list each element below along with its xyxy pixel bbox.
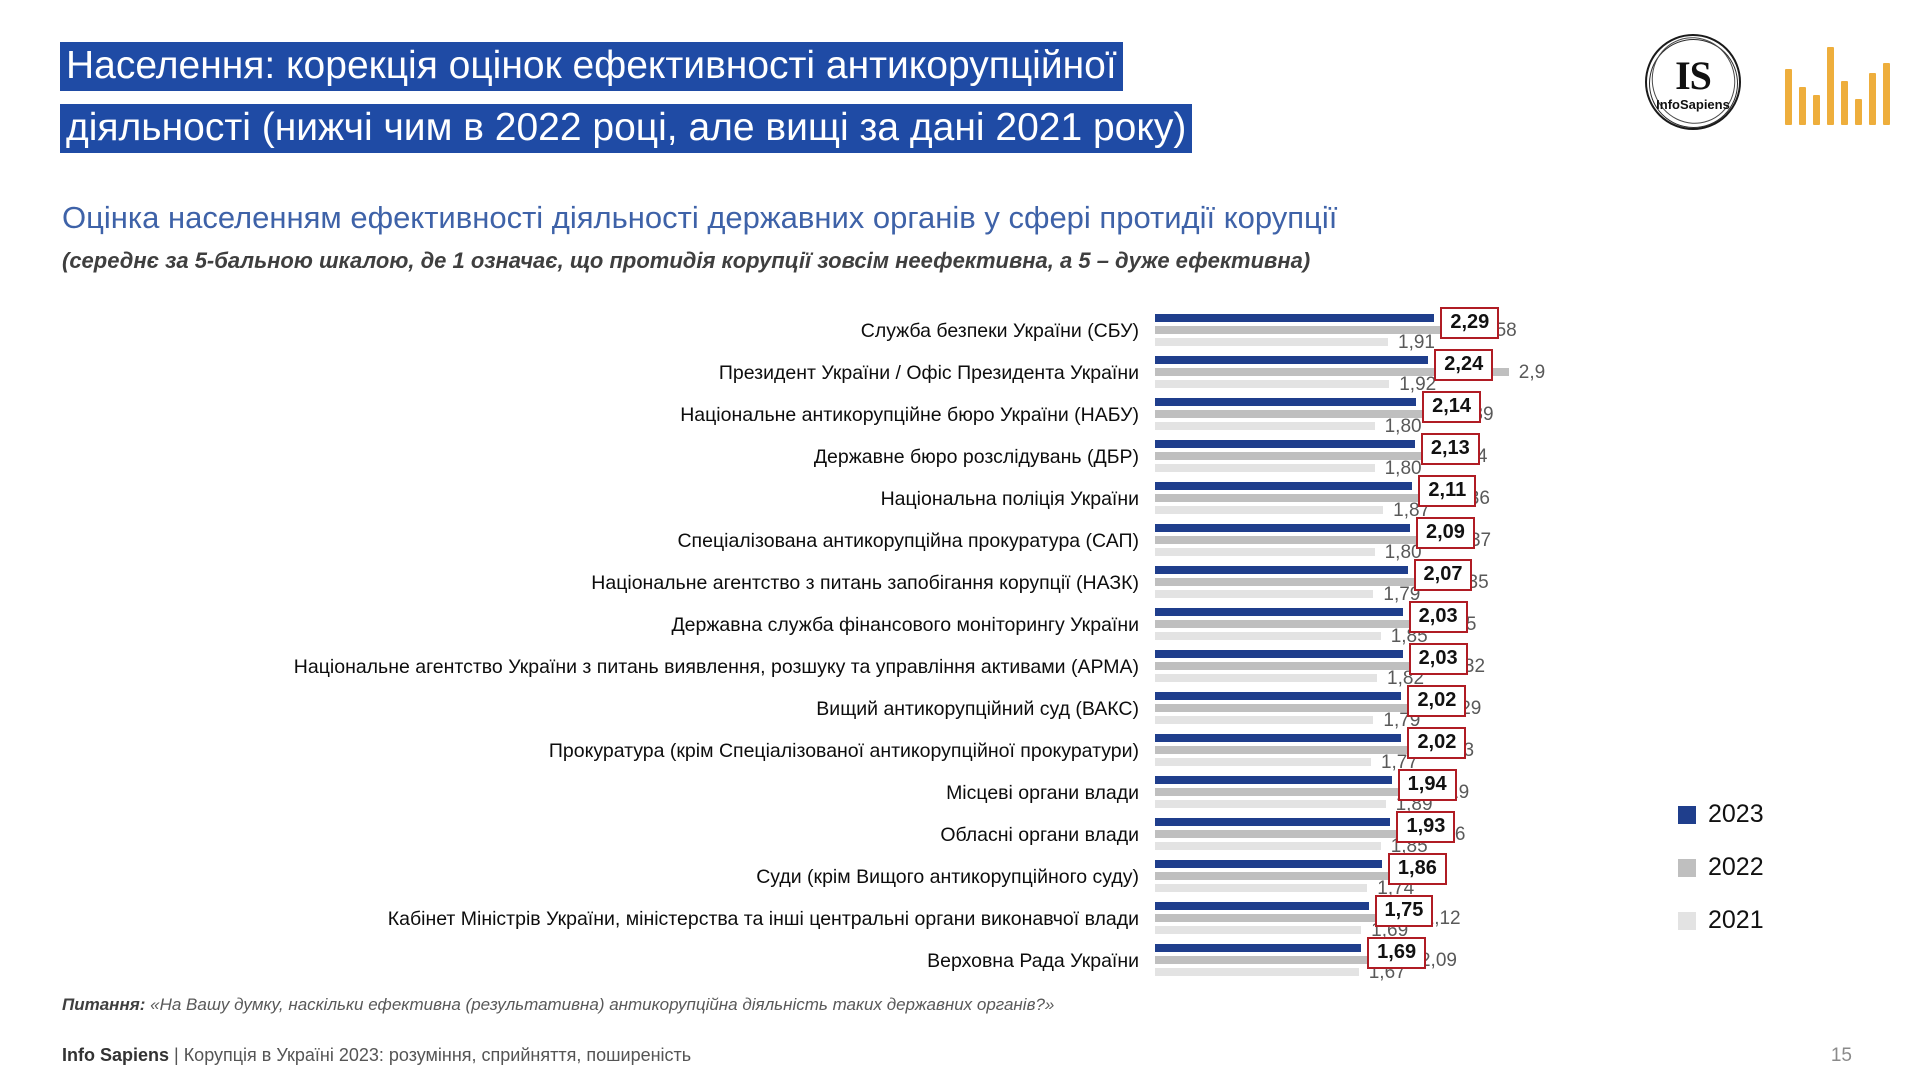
legend-label: 2022: [1708, 853, 1764, 882]
chart-legend: 202320222021: [1678, 800, 1764, 935]
value-label-2023: 2,29: [1440, 307, 1499, 339]
survey-question: Питання: «На Вашу думку, наскільки ефект…: [62, 995, 1054, 1015]
bar-2021: [1155, 716, 1373, 724]
bar-2021: [1155, 842, 1381, 850]
value-label-2023: 2,07: [1414, 559, 1473, 591]
category-label: Національне агентство з питань запобіган…: [0, 572, 1155, 595]
category-label: Спеціалізована антикорупційна прокуратур…: [0, 530, 1155, 553]
slide-root: Населення: корекція оцінок ефективності …: [0, 0, 1920, 1080]
bar-group: 2,022,291,79: [1155, 688, 1920, 730]
bar-group: 2,112,361,87: [1155, 478, 1920, 520]
bar-2023: [1155, 902, 1369, 910]
chart-row: Спеціалізована антикорупційна прокуратур…: [0, 520, 1920, 562]
legend-item-2022[interactable]: 2022: [1678, 853, 1764, 882]
logo-wordmark: InfoSapiens: [1645, 97, 1741, 112]
category-label: Вищий антикорупційний суд (ВАКС): [0, 698, 1155, 721]
bar-2021: [1155, 548, 1375, 556]
value-label-2023: 2,03: [1409, 643, 1468, 675]
chart-row: Державне бюро розслідувань (ДБР)2,132,34…: [0, 436, 1920, 478]
legend-label: 2023: [1708, 800, 1764, 829]
equalizer-bars-icon: [1785, 39, 1890, 125]
legend-item-2021[interactable]: 2021: [1678, 906, 1764, 935]
bar-chart: Служба безпеки України (СБУ)2,292,581,91…: [0, 310, 1920, 970]
legend-swatch-icon: [1678, 806, 1696, 824]
chart-row: Верховна Рада України1,692,091,67: [0, 940, 1920, 982]
bar-2021: [1155, 464, 1375, 472]
bar-2023: [1155, 860, 1382, 868]
chart-row: Кабінет Міністрів України, міністерства …: [0, 898, 1920, 940]
bar-2023: [1155, 776, 1392, 784]
bar-group: 1,862,11,74: [1155, 856, 1920, 898]
chart-row: Вищий антикорупційний суд (ВАКС)2,022,29…: [0, 688, 1920, 730]
bar-group: 1,932,161,85: [1155, 814, 1920, 856]
category-label: Місцеві органи влади: [0, 782, 1155, 805]
value-label-2021: 1,80: [1385, 458, 1422, 480]
bar-2023: [1155, 524, 1410, 532]
value-label-2021: 1,80: [1385, 416, 1422, 438]
category-label: Національна поліція України: [0, 488, 1155, 511]
bar-2023: [1155, 314, 1434, 322]
bar-2023: [1155, 482, 1412, 490]
bar-2023: [1155, 608, 1403, 616]
chart-row: Національне антикорупційне бюро України …: [0, 394, 1920, 436]
legend-swatch-icon: [1678, 859, 1696, 877]
value-label-2023: 1,75: [1375, 895, 1434, 927]
value-label-2023: 2,11: [1418, 475, 1476, 507]
chart-row: Президент України / Офіс Президента Укра…: [0, 352, 1920, 394]
logo-area: IS InfoSapiens: [1645, 34, 1890, 130]
value-label-2023: 1,93: [1396, 811, 1455, 843]
page-number: 15: [1831, 1045, 1852, 1067]
bar-2021: [1155, 380, 1389, 388]
value-label-2022: 2,9: [1519, 362, 1545, 384]
chart-row: Національне агентство України з питань в…: [0, 646, 1920, 688]
category-label: Суди (крім Вищого антикорупційного суду): [0, 866, 1155, 889]
bar-2023: [1155, 944, 1361, 952]
bar-2021: [1155, 422, 1375, 430]
bar-2022: [1155, 620, 1430, 628]
chart-row: Місцеві органи влади1,942,191,89: [0, 772, 1920, 814]
bar-2022: [1155, 872, 1411, 880]
bar-2023: [1155, 398, 1416, 406]
category-label: Державна служба фінансового моніторингу …: [0, 614, 1155, 637]
category-label: Державне бюро розслідувань (ДБР): [0, 446, 1155, 469]
bar-2023: [1155, 440, 1415, 448]
bar-2021: [1155, 758, 1371, 766]
chart-row: Національне агентство з питань запобіган…: [0, 562, 1920, 604]
bar-2023: [1155, 818, 1390, 826]
footer-text: Info Sapiens | Корупція в Україні 2023: …: [62, 1045, 691, 1066]
bar-group: 2,142,391,80: [1155, 394, 1920, 436]
bar-2022: [1155, 830, 1419, 838]
bar-2021: [1155, 338, 1388, 346]
bar-2023: [1155, 566, 1408, 574]
bar-2021: [1155, 968, 1359, 976]
chart-row: Державна служба фінансового моніторингу …: [0, 604, 1920, 646]
category-label: Верховна Рада України: [0, 950, 1155, 973]
value-label-2023: 1,86: [1388, 853, 1447, 885]
bar-group: 1,692,091,67: [1155, 940, 1920, 982]
category-label: Прокуратура (крім Спеціалізованої антико…: [0, 740, 1155, 763]
footer-rest: | Корупція в Україні 2023: розуміння, сп…: [169, 1045, 691, 1065]
bar-2021: [1155, 926, 1361, 934]
bar-2021: [1155, 590, 1373, 598]
value-label-2023: 2,24: [1434, 349, 1493, 381]
bar-group: 2,032,251,85: [1155, 604, 1920, 646]
value-label-2023: 2,14: [1422, 391, 1481, 423]
title-line-2: діяльності (нижчі чим в 2022 році, але в…: [60, 104, 1192, 153]
value-label-2021: 1,91: [1398, 332, 1435, 354]
bar-group: 2,022,231,77: [1155, 730, 1920, 772]
category-label: Національне антикорупційне бюро України …: [0, 404, 1155, 427]
chart-row: Національна поліція України2,112,361,87: [0, 478, 1920, 520]
bar-group: 2,072,351,79: [1155, 562, 1920, 604]
bar-2023: [1155, 734, 1401, 742]
category-label: Президент України / Офіс Президента Укра…: [0, 362, 1155, 385]
slide-title: Населення: корекція оцінок ефективності …: [60, 40, 1600, 164]
bar-2021: [1155, 884, 1367, 892]
bar-group: 1,752,121,69: [1155, 898, 1920, 940]
chart-row: Служба безпеки України (СБУ)2,292,581,91: [0, 310, 1920, 352]
title-line-1: Населення: корекція оцінок ефективності …: [60, 42, 1123, 91]
bar-group: 1,942,191,89: [1155, 772, 1920, 814]
value-label-2023: 1,94: [1398, 769, 1457, 801]
chart-row: Суди (крім Вищого антикорупційного суду)…: [0, 856, 1920, 898]
chart-subtitle: Оцінка населенням ефективності діяльност…: [62, 200, 1862, 236]
value-label-2023: 2,02: [1407, 727, 1466, 759]
bar-group: 2,292,581,91: [1155, 310, 1920, 352]
bar-2021: [1155, 506, 1383, 514]
survey-question-prefix: Питання:: [62, 995, 145, 1014]
value-label-2023: 2,02: [1407, 685, 1466, 717]
value-label-2023: 2,03: [1409, 601, 1468, 633]
bar-2021: [1155, 674, 1377, 682]
bar-group: 2,132,341,80: [1155, 436, 1920, 478]
chart-scale-note: (середнє за 5-бальною шкалою, де 1 означ…: [62, 248, 1862, 274]
value-label-2023: 2,13: [1421, 433, 1480, 465]
survey-question-text: «На Вашу думку, наскільки ефективна (рез…: [145, 995, 1054, 1014]
infosapiens-logo-icon: IS InfoSapiens: [1645, 34, 1741, 130]
chart-row: Обласні органи влади1,932,161,85: [0, 814, 1920, 856]
category-label: Обласні органи влади: [0, 824, 1155, 847]
bar-2021: [1155, 800, 1386, 808]
category-label: Служба безпеки України (СБУ): [0, 320, 1155, 343]
legend-label: 2021: [1708, 906, 1764, 935]
footer-brand: Info Sapiens: [62, 1045, 169, 1065]
bar-group: 2,242,91,92: [1155, 352, 1920, 394]
value-label-2023: 1,69: [1367, 937, 1426, 969]
category-label: Національне агентство України з питань в…: [0, 656, 1155, 679]
category-label: Кабінет Міністрів України, міністерства …: [0, 908, 1155, 931]
bar-2022: [1155, 788, 1422, 796]
bar-2023: [1155, 356, 1428, 364]
logo-monogram: IS: [1645, 52, 1741, 99]
bar-2023: [1155, 650, 1403, 658]
bar-2021: [1155, 632, 1381, 640]
legend-item-2023[interactable]: 2023: [1678, 800, 1764, 829]
bar-2023: [1155, 692, 1401, 700]
bar-group: 2,092,371,80: [1155, 520, 1920, 562]
bar-group: 2,032,321,82: [1155, 646, 1920, 688]
chart-row: Прокуратура (крім Спеціалізованої антико…: [0, 730, 1920, 772]
value-label-2023: 2,09: [1416, 517, 1475, 549]
legend-swatch-icon: [1678, 912, 1696, 930]
